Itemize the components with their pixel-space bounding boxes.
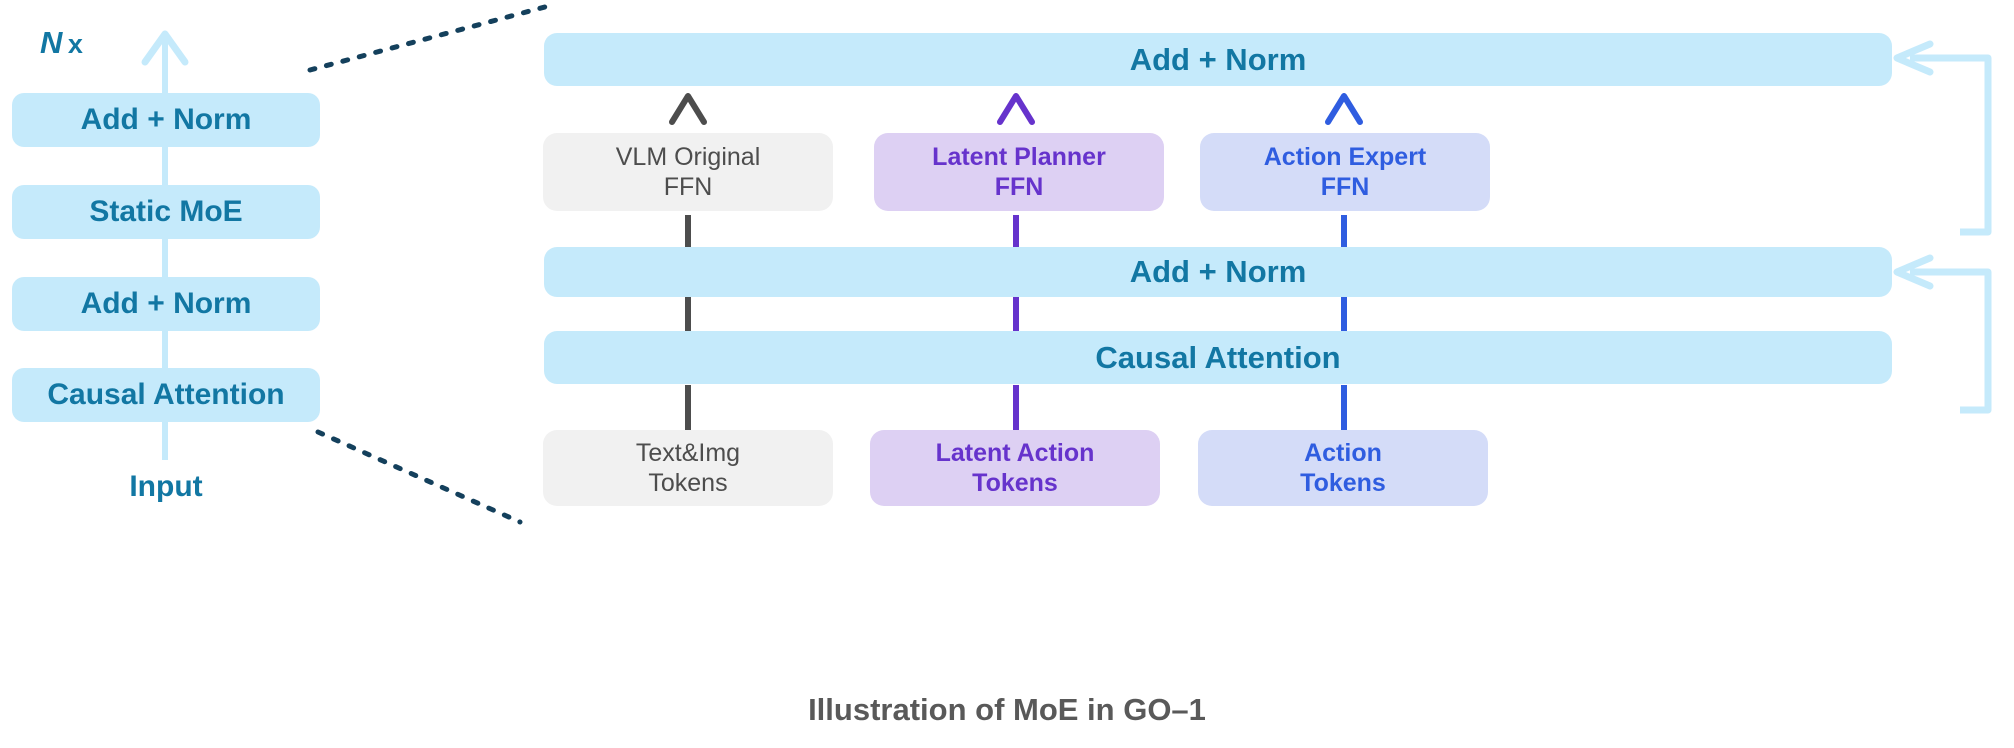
token-label: Text&Img Tokens [636, 438, 740, 499]
right-causal-attention-label: Causal Attention [1095, 339, 1340, 377]
left-block-add-norm-bottom[interactable]: Add + Norm [12, 277, 320, 331]
line-gray-tokens-to-attn [685, 385, 691, 430]
dotted-connector-bottom [318, 432, 520, 522]
repeat-count-x: x [68, 29, 84, 59]
expert-label: Latent Planner FFN [932, 142, 1106, 203]
right-top-add-norm-label: Add + Norm [1130, 41, 1307, 79]
left-block-label: Add + Norm [81, 102, 252, 139]
right-mid-add-norm-label: Add + Norm [1130, 253, 1307, 291]
repeat-count-n: N [40, 25, 63, 60]
left-block-label: Static MoE [89, 194, 242, 231]
line-blue-addnorm-to-attn [1341, 296, 1347, 332]
residual-arrowhead-upper [1897, 44, 1930, 72]
figure-canvas: Nx Add + Norm Static MoE Add + Norm Caus… [0, 0, 2014, 748]
left-input-label: Input [12, 470, 320, 504]
expert-label: Action Expert FFN [1264, 142, 1427, 203]
line-purple-addnorm-to-attn [1013, 296, 1019, 332]
expert-vlm-original-ffn[interactable]: VLM Original FFN [543, 133, 833, 211]
expert-label: VLM Original FFN [616, 142, 761, 203]
dotted-connector-top [310, 4, 556, 70]
tokens-action[interactable]: Action Tokens [1198, 430, 1488, 506]
expert-action-expert-ffn[interactable]: Action Expert FFN [1200, 133, 1490, 211]
left-block-add-norm-top[interactable]: Add + Norm [12, 93, 320, 147]
left-block-static-moe[interactable]: Static MoE [12, 185, 320, 239]
expert-latent-planner-ffn[interactable]: Latent Planner FFN [874, 133, 1164, 211]
left-block-label: Causal Attention [47, 377, 284, 414]
residual-path-lower [1910, 272, 1988, 410]
left-block-label: Add + Norm [81, 286, 252, 323]
token-label: Action Tokens [1300, 438, 1386, 499]
figure-caption: Illustration of MoE in GO–1 [0, 692, 2014, 728]
residual-path-upper [1910, 58, 1988, 232]
residual-arrowhead-lower [1897, 258, 1930, 286]
right-mid-add-norm[interactable]: Add + Norm [544, 247, 1892, 297]
right-causal-attention[interactable]: Causal Attention [544, 331, 1892, 384]
up-arrow-gray-icon [672, 96, 704, 122]
line-purple-tokens-to-attn [1013, 385, 1019, 430]
line-blue-tokens-to-attn [1341, 385, 1347, 430]
left-block-causal-attention[interactable]: Causal Attention [12, 368, 320, 422]
up-arrow-purple-icon [1000, 96, 1032, 122]
up-arrow-blue-icon [1328, 96, 1360, 122]
tokens-latent-action[interactable]: Latent Action Tokens [870, 430, 1160, 506]
right-top-add-norm[interactable]: Add + Norm [544, 33, 1892, 86]
token-label: Latent Action Tokens [936, 438, 1095, 499]
line-gray-addnorm-to-attn [685, 296, 691, 332]
repeat-count-label: Nx [40, 25, 83, 61]
tokens-text-img[interactable]: Text&Img Tokens [543, 430, 833, 506]
